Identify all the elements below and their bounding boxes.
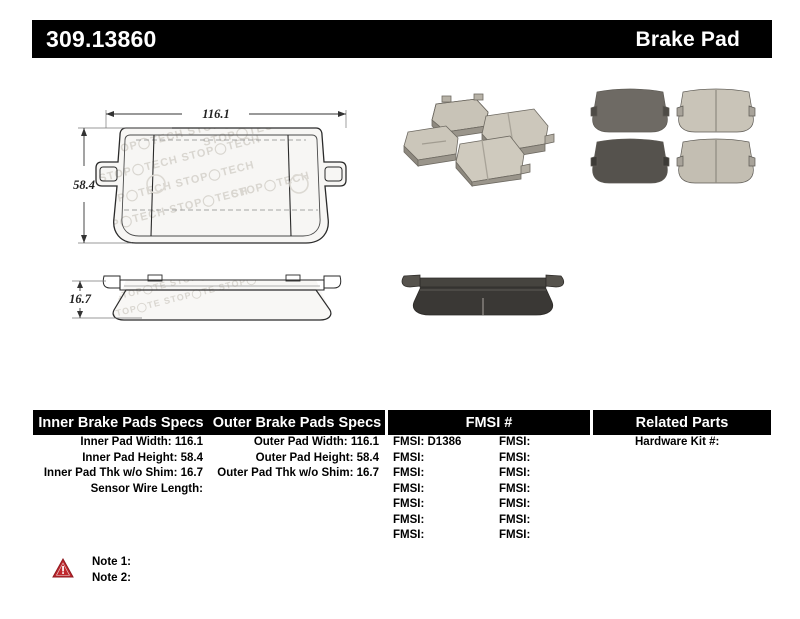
spec-value: 116.1	[175, 436, 203, 448]
fmsi-entry: FMSI: D1386	[393, 435, 499, 451]
notes-section: Note 1: Note 2:	[52, 554, 131, 586]
spec-label: Outer Pad Width:	[254, 436, 348, 448]
fmsi-entry: FMSI:	[393, 482, 499, 498]
fmsi-entry: FMSI:	[393, 466, 499, 482]
fmsi-entry: FMSI:	[499, 466, 590, 482]
related-parts-column: Hardware Kit #:	[593, 435, 793, 451]
spec-header-fmsi: FMSI #	[388, 410, 590, 435]
side-view-drawing: STOP◯TE STOP◯TE STOP◯TE STOP◯TE STOP◯TE …	[54, 264, 384, 339]
fmsi-entry: FMSI:	[499, 497, 590, 513]
spec-label: Inner Pad Height:	[82, 452, 177, 464]
width-dimension-label: 116.1	[202, 107, 229, 121]
fmsi-entry: FMSI:	[499, 513, 590, 529]
brake-pads-front-back-photo	[577, 82, 767, 197]
fmsi-entry: FMSI:	[393, 451, 499, 467]
stoptech-watermark-side: STOP◯TE STOP◯TE STOP◯TE STOP◯TE STOP◯TE …	[104, 264, 344, 324]
spec-label: Outer Pad Height:	[256, 452, 354, 464]
drawing-area: STOP◯TECH STOP◯TECH STOP◯TECH STOP◯TECH …	[32, 72, 772, 382]
thickness-dimension-label: 16.7	[69, 292, 92, 306]
front-view-drawing: STOP◯TECH STOP◯TECH STOP◯TECH STOP◯TECH …	[54, 98, 384, 263]
spec-value: 16.7	[357, 467, 379, 479]
spec-value: 116.1	[351, 436, 379, 448]
height-dimension-label: 58.4	[73, 178, 95, 192]
spec-value: 58.4	[357, 452, 379, 464]
fmsi-entry: FMSI:	[393, 528, 499, 544]
outer-specs-column: Outer Pad Width: 116.1 Outer Pad Height:…	[209, 435, 385, 482]
spec-table-body: Inner Pad Width: 116.1 Inner Pad Height:…	[33, 435, 771, 545]
fmsi-column: FMSI: D1386 FMSI: FMSI: FMSI: FMSI: FMSI…	[388, 435, 590, 544]
spec-row: Inner Pad Width: 116.1	[33, 435, 203, 451]
part-number: 309.13860	[46, 28, 157, 51]
page-title: Brake Pad	[635, 29, 758, 50]
brake-pad-edge-profile-photo	[390, 268, 575, 328]
notes-text-block: Note 1: Note 2:	[92, 554, 131, 586]
fmsi-entry: FMSI:	[499, 451, 590, 467]
spec-header-inner: Inner Brake Pads Specs	[33, 410, 209, 435]
spec-label: Outer Pad Thk w/o Shim:	[217, 467, 353, 479]
fmsi-entry: FMSI:	[393, 513, 499, 529]
page-header-bar: 309.13860 Brake Pad	[32, 20, 772, 58]
note-line-2: Note 2:	[92, 570, 131, 586]
spec-row: Outer Pad Thk w/o Shim: 16.7	[209, 466, 379, 482]
note-line-1: Note 1:	[92, 554, 131, 570]
fmsi-entry: FMSI:	[499, 528, 590, 544]
spec-row: Outer Pad Width: 116.1	[209, 435, 379, 451]
spec-value: 16.7	[181, 467, 203, 479]
fmsi-entry: FMSI:	[499, 435, 590, 451]
spec-value: 58.4	[181, 452, 203, 464]
width-dimension: 116.1	[106, 107, 346, 128]
fmsi-entry: FMSI:	[499, 482, 590, 498]
spec-header-outer: Outer Brake Pads Specs	[209, 410, 385, 435]
fmsi-entry: FMSI:	[393, 497, 499, 513]
inner-specs-column: Inner Pad Width: 116.1 Inner Pad Height:…	[33, 435, 209, 497]
spec-table: Inner Brake Pads Specs Outer Brake Pads …	[33, 410, 771, 545]
warning-triangle-icon	[52, 558, 74, 578]
spec-row: Sensor Wire Length:	[33, 482, 203, 498]
brake-pads-angled-set-photo	[402, 82, 577, 192]
hardware-kit-entry: Hardware Kit #:	[593, 435, 793, 451]
spec-row: Inner Pad Thk w/o Shim: 16.7	[33, 466, 203, 482]
spec-row: Outer Pad Height: 58.4	[209, 451, 379, 467]
spec-label: Inner Pad Thk w/o Shim:	[44, 467, 178, 479]
spec-header-related-parts: Related Parts	[593, 410, 771, 435]
spec-label: Sensor Wire Length:	[91, 483, 203, 495]
spec-row: Inner Pad Height: 58.4	[33, 451, 203, 467]
spec-label: Inner Pad Width:	[80, 436, 171, 448]
spec-table-header-row: Inner Brake Pads Specs Outer Brake Pads …	[33, 410, 771, 435]
